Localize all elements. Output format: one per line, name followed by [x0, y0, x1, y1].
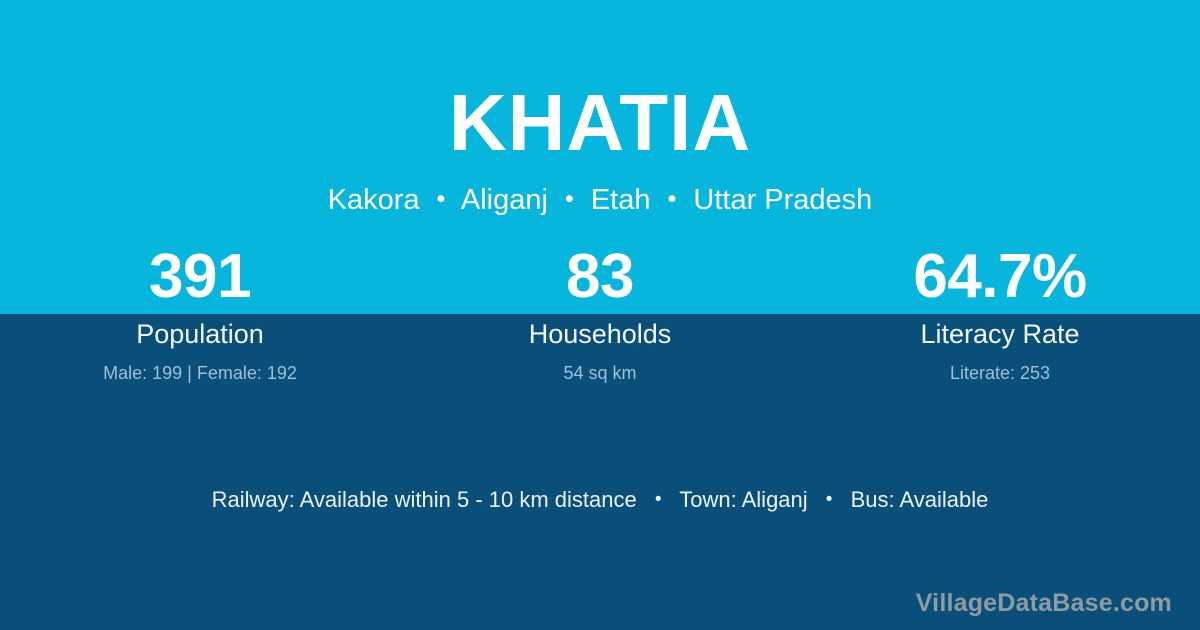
card-content: KHATIA Kakora • Aliganj • Etah • Uttar P… — [0, 0, 1200, 630]
stat-sub: 54 sq km — [400, 361, 800, 385]
site-brand-watermark: VillageDataBase.com — [916, 588, 1172, 618]
facility-bus: Bus: Available — [851, 487, 989, 512]
stat-label: Population — [0, 317, 400, 351]
breadcrumb-part-state: Uttar Pradesh — [693, 184, 872, 216]
breadcrumb: Kakora • Aliganj • Etah • Uttar Pradesh — [0, 180, 1200, 221]
breadcrumb-separator: • — [428, 185, 455, 213]
breadcrumb-separator: • — [659, 185, 686, 213]
page-title: KHATIA — [0, 78, 1200, 168]
breadcrumb-separator: • — [556, 185, 583, 213]
stat-sub: Male: 199 | Female: 192 — [0, 361, 400, 385]
facility-railway: Railway: Available within 5 - 10 km dist… — [212, 487, 637, 512]
stat-value: 391 — [0, 243, 400, 311]
stat-sub: Literate: 253 — [800, 361, 1200, 385]
village-info-card: KHATIA Kakora • Aliganj • Etah • Uttar P… — [0, 0, 1200, 630]
stat-population: 391 Population Male: 199 | Female: 192 — [0, 243, 400, 385]
facility-separator: • — [643, 489, 674, 510]
breadcrumb-part-block: Kakora — [328, 184, 420, 216]
facility-separator: • — [814, 489, 845, 510]
facilities-line: Railway: Available within 5 - 10 km dist… — [0, 484, 1200, 518]
stat-label: Households — [400, 317, 800, 351]
stat-literacy-rate: 64.7% Literacy Rate Literate: 253 — [800, 243, 1200, 385]
stat-value: 83 — [400, 243, 800, 311]
facility-town: Town: Aliganj — [679, 487, 807, 512]
breadcrumb-part-district: Etah — [591, 184, 651, 216]
breadcrumb-part-subdistrict: Aliganj — [461, 184, 548, 216]
stat-label: Literacy Rate — [800, 317, 1200, 351]
stats-row: 391 Population Male: 199 | Female: 192 8… — [0, 243, 1200, 385]
stat-value: 64.7% — [800, 243, 1200, 311]
stat-households: 83 Households 54 sq km — [400, 243, 800, 385]
